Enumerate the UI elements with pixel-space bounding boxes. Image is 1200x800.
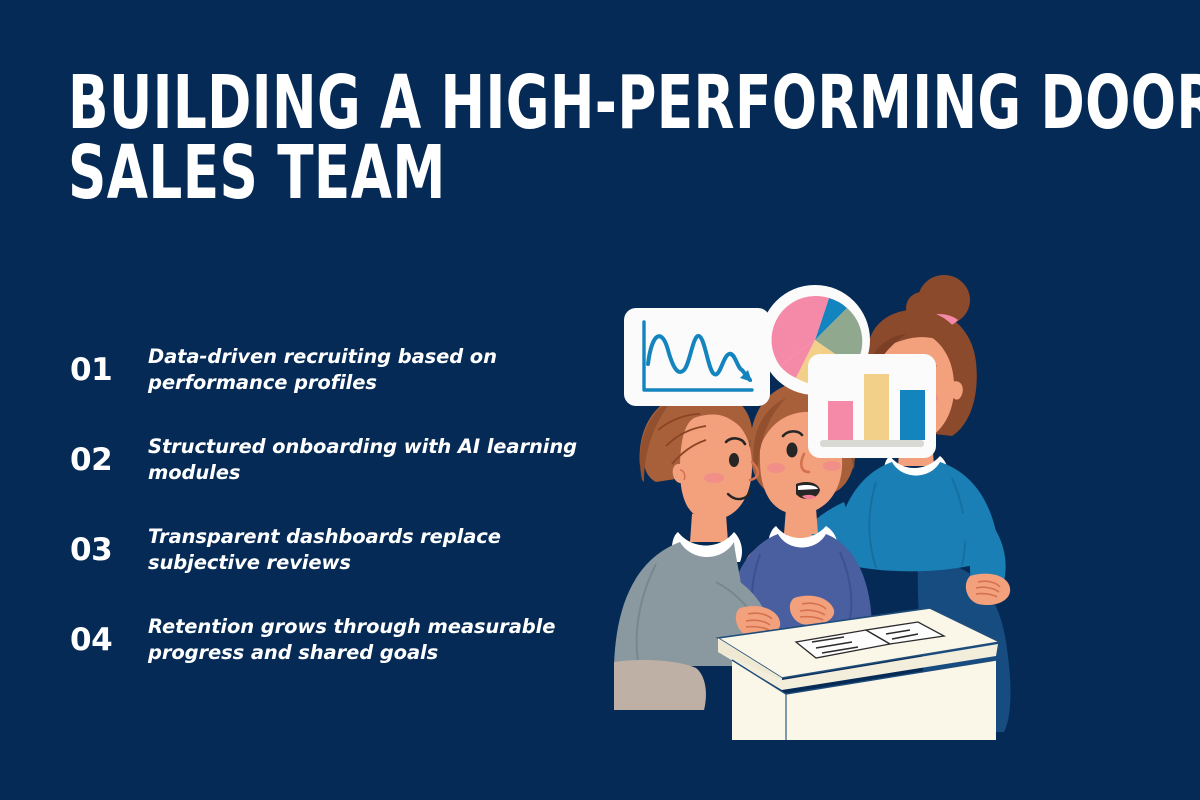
list-item-number: 02 bbox=[70, 445, 148, 476]
list-item-text: Data-driven recruiting based on performa… bbox=[148, 344, 580, 396]
slide-canvas: Building a High-Performing Door Sales Te… bbox=[0, 0, 1200, 800]
list-item-number: 01 bbox=[70, 355, 148, 386]
list-item-text: Transparent dashboards replace subjectiv… bbox=[148, 524, 580, 576]
line-chart-card bbox=[624, 308, 770, 406]
list-item-text: Structured onboarding with AI learning m… bbox=[148, 434, 580, 486]
page-title-line-2: Sales Team bbox=[68, 138, 836, 208]
list-item: 04 Retention grows through measurable pr… bbox=[70, 595, 580, 685]
list-item-number: 04 bbox=[70, 625, 148, 656]
list-item: 01 Data-driven recruiting based on perfo… bbox=[70, 325, 580, 415]
numbered-list: 01 Data-driven recruiting based on perfo… bbox=[70, 325, 580, 685]
bar-chart-card bbox=[808, 354, 936, 458]
list-item: 02 Structured onboarding with AI learnin… bbox=[70, 415, 580, 505]
list-item-number: 03 bbox=[70, 535, 148, 566]
page-title: Building a High-Performing Door Sales Te… bbox=[68, 68, 1028, 208]
team-meeting-illustration bbox=[600, 270, 1060, 740]
page-title-line-1: Building a High-Performing Door bbox=[68, 68, 836, 138]
list-item: 03 Transparent dashboards replace subjec… bbox=[70, 505, 580, 595]
list-item-text: Retention grows through measurable progr… bbox=[148, 614, 580, 666]
